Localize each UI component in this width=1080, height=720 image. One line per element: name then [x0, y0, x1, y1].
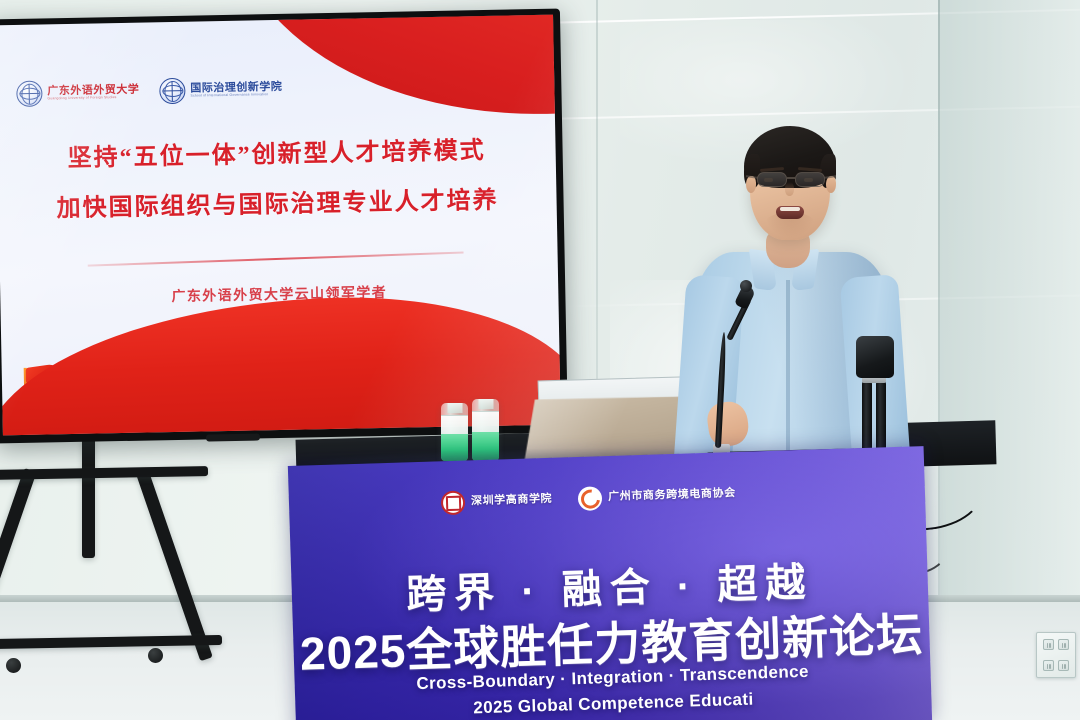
display-ir-sensor — [206, 433, 260, 441]
speaker-ear — [826, 176, 836, 193]
eyeglasses-lens — [795, 172, 825, 187]
outlet-socket — [1058, 660, 1069, 671]
stand-caster — [148, 648, 163, 663]
forum-podium-banner: 深圳学高商学院 广州市商务跨境电商协会 跨界 · 融合 · 超越 2025全球胜… — [288, 446, 932, 720]
stand-vertical-post — [82, 438, 95, 558]
microphone-capsule — [856, 336, 894, 378]
slide-title-line-1: 坚持“五位一体”创新型人才培养模式 — [0, 133, 556, 179]
gdufs-logo: 广东外语外贸大学 Guangdong University of Foreign… — [16, 79, 139, 107]
sigi-logo-en: School of International Governance Innov… — [190, 93, 282, 98]
speaker-mouth — [776, 206, 804, 219]
bottle-neck — [478, 399, 493, 409]
eyeglasses-lens — [757, 172, 787, 187]
shenzhen-institute-logo: 深圳学高商学院 — [441, 488, 553, 515]
bottle-neck — [447, 403, 462, 413]
presentation-display: 广东外语外贸大学 Guangdong University of Foreign… — [0, 9, 568, 444]
speaker-nose — [785, 182, 794, 196]
slide-divider — [88, 251, 464, 266]
conference-photo-scene: 广东外语外贸大学 Guangdong University of Foreign… — [0, 0, 1080, 720]
eyeglasses-bridge — [787, 177, 795, 179]
slide-logo-row: 广东外语外贸大学 Guangdong University of Foreign… — [16, 76, 282, 107]
stand-caster — [6, 658, 21, 673]
globe-icon — [159, 78, 185, 104]
shirt-placket — [786, 280, 790, 460]
institute-seal-icon — [441, 491, 466, 516]
outlet-socket — [1043, 639, 1054, 650]
outlet-socket — [1058, 639, 1069, 650]
banner-logo-cn: 深圳学高商学院 — [471, 494, 553, 508]
speaker-ear — [746, 176, 756, 193]
gdufs-logo-en: Guangdong University of Foreign Studies — [47, 95, 139, 100]
banner-logo-cn: 广州市商务跨境电商协会 — [608, 488, 736, 504]
presentation-slide: 广东外语外贸大学 Guangdong University of Foreign… — [0, 15, 561, 436]
bottle-label — [472, 411, 499, 433]
microphone-tip — [740, 280, 752, 292]
slide-title-line-2: 加快国际组织与国际治理专业人才培养 — [0, 183, 557, 229]
outlet-socket — [1043, 660, 1054, 671]
power-outlet[interactable] — [1036, 632, 1076, 678]
association-c-icon — [578, 486, 603, 511]
sigi-logo: 国际治理创新学院 School of International Governa… — [159, 76, 282, 104]
guangzhou-association-logo: 广州市商务跨境电商协会 — [578, 482, 736, 511]
globe-icon — [16, 81, 42, 107]
